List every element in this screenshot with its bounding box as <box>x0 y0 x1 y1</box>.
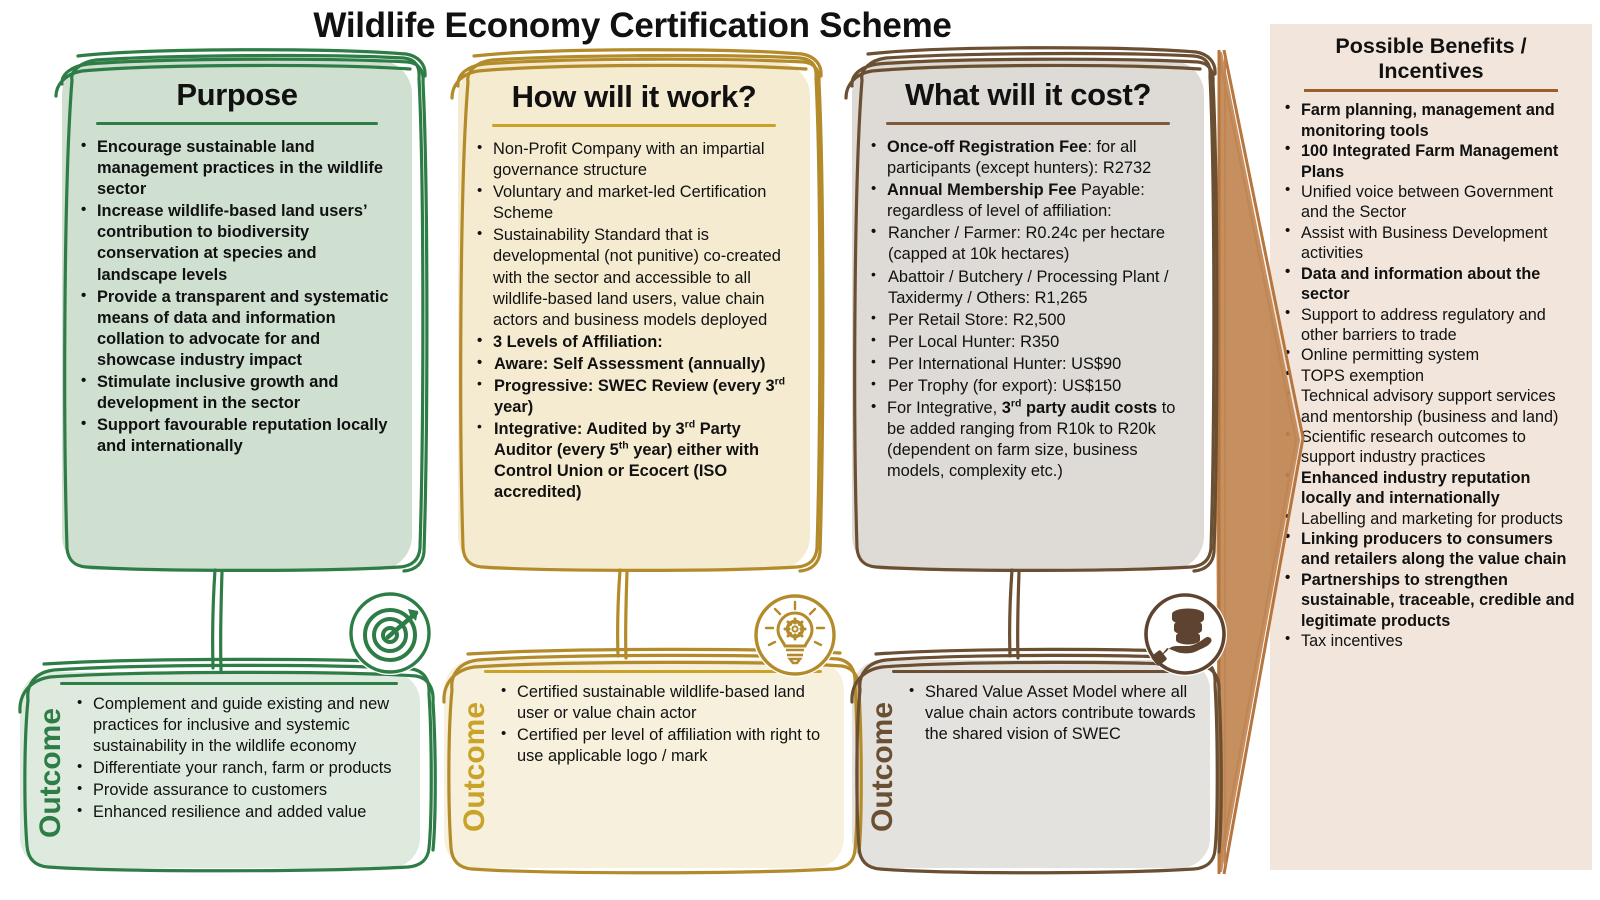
list-item: Aware: Self Assessment (annually) <box>475 354 794 375</box>
card-how-will-it-work: How will it work? Non-Profit Company wit… <box>458 62 810 570</box>
list-item: Progressive: SWEC Review (every 3rd year… <box>475 376 794 418</box>
list-item: Rancher / Farmer: R0.24c per hectare (ca… <box>869 223 1188 265</box>
benefits-heading: Possible Benefits / Incentives <box>1282 32 1580 83</box>
list-item: Voluntary and market-led Certification S… <box>474 182 794 224</box>
list-item: Differentiate your ranch, farm or produc… <box>74 758 406 779</box>
list-item: Provide a transparent and systematic mea… <box>78 287 396 371</box>
card-how-bullets: Non-Profit Company with an impartial gov… <box>474 139 794 503</box>
list-item: Abattoir / Butchery / Processing Plant /… <box>869 267 1188 309</box>
list-item-group: Aware: Self Assessment (annually) Progre… <box>474 354 794 504</box>
target-icon <box>348 591 432 675</box>
list-item: Linking producers to consumers and retai… <box>1282 529 1580 570</box>
list-item: Labelling and marketing for products <box>1282 509 1580 529</box>
list-item: Sustainability Standard that is developm… <box>474 225 794 330</box>
list-item: Tax incentives <box>1282 631 1580 651</box>
list-item: Enhanced resilience and added value <box>74 802 406 823</box>
hand-coins-icon <box>1143 592 1227 676</box>
card-purpose-divider <box>96 122 378 125</box>
list-item: Certified per level of affiliation with … <box>498 725 830 767</box>
lightbulb-gear-icon <box>753 593 837 677</box>
list-item: Online permitting system <box>1282 345 1580 365</box>
benefits-panel: Possible Benefits / Incentives Farm plan… <box>1270 24 1592 870</box>
list-item: Encourage sustainable land management pr… <box>78 137 396 200</box>
list-item: Technical advisory support services and … <box>1282 386 1580 427</box>
list-item: Stimulate inclusive growth and developme… <box>78 372 396 414</box>
list-item: Per Local Hunter: R350 <box>869 332 1188 353</box>
list-item: Assist with Business Development activit… <box>1282 223 1580 264</box>
list-item: Support to address regulatory and other … <box>1282 305 1580 346</box>
list-item: TOPS exemption <box>1282 366 1580 386</box>
list-item: Once-off Registration Fee: for all parti… <box>868 137 1188 179</box>
outcome-how-bullets: Certified sustainable wildlife-based lan… <box>498 682 830 767</box>
card-how-divider <box>492 124 776 127</box>
card-purpose: Purpose Encourage sustainable land manag… <box>62 60 412 570</box>
list-item: Data and information about the sector <box>1282 264 1580 305</box>
list-item: Scientific research outcomes to support … <box>1282 427 1580 468</box>
list-item: 100 Integrated Farm Management Plans <box>1282 141 1580 182</box>
outcome-box-cost: Outcome Shared Value Asset Model where a… <box>852 660 1210 868</box>
list-item: Provide assurance to customers <box>74 780 406 801</box>
outcome-label: Outcome <box>858 676 900 856</box>
card-cost-heading: What will it cost? <box>868 78 1188 112</box>
list-item: Non-Profit Company with an impartial gov… <box>474 139 794 181</box>
card-purpose-heading: Purpose <box>78 78 396 112</box>
outcome-box-how: Outcome Certified sustainable wildlife-b… <box>444 660 844 868</box>
fee-schedule: Rancher / Farmer: R0.24c per hectare (ca… <box>868 223 1188 397</box>
page-title: Wildlife Economy Certification Scheme <box>0 6 1265 46</box>
outcome-cost-bullets: Shared Value Asset Model where all value… <box>906 682 1196 745</box>
card-cost-divider <box>886 122 1170 125</box>
list-item: Per Trophy (for export): US$150 <box>869 376 1188 397</box>
list-item: Enhanced industry reputation locally and… <box>1282 468 1580 509</box>
list-item: Partnerships to strengthen sustainable, … <box>1282 570 1580 631</box>
list-item-group: Rancher / Farmer: R0.24c per hectare (ca… <box>868 223 1188 397</box>
outcome-label: Outcome <box>26 688 68 856</box>
list-item: Increase wildlife-based land users’ cont… <box>78 201 396 285</box>
affiliation-levels: Aware: Self Assessment (annually) Progre… <box>474 354 794 504</box>
list-item: Per International Hunter: US$90 <box>869 354 1188 375</box>
list-item: Per Retail Store: R2,500 <box>869 310 1188 331</box>
list-item: Unified voice between Government and the… <box>1282 182 1580 223</box>
list-item: Support favourable reputation locally an… <box>78 415 396 457</box>
outcome-purpose-divider <box>60 682 398 685</box>
card-cost-bullets: Once-off Registration Fee: for all parti… <box>868 137 1188 482</box>
connector-purpose <box>213 570 222 670</box>
list-item: Certified sustainable wildlife-based lan… <box>498 682 830 724</box>
outcome-box-purpose: Outcome Complement and guide existing an… <box>20 672 420 868</box>
list-item: Integrative: Audited by 3rd Party Audito… <box>475 419 794 503</box>
card-how-heading: How will it work? <box>474 80 794 114</box>
list-item: For Integrative, 3rd party audit costs t… <box>868 398 1188 482</box>
list-item: Annual Membership Fee Payable: regardles… <box>868 180 1188 222</box>
connector-how <box>618 570 627 658</box>
card-what-will-it-cost: What will it cost? Once-off Registration… <box>852 60 1204 570</box>
benefits-divider <box>1304 89 1558 92</box>
list-item: Farm planning, management and monitoring… <box>1282 100 1580 141</box>
connector-cost <box>1010 570 1019 658</box>
list-item: Complement and guide existing and new pr… <box>74 694 406 757</box>
outcome-label: Outcome <box>450 676 492 856</box>
infographic-canvas: Wildlife Economy Certification Scheme Pu… <box>0 0 1600 900</box>
card-purpose-bullets: Encourage sustainable land management pr… <box>78 137 396 457</box>
benefits-list: Farm planning, management and monitoring… <box>1282 100 1580 651</box>
outcome-purpose-bullets: Complement and guide existing and new pr… <box>74 694 406 823</box>
list-item: Shared Value Asset Model where all value… <box>906 682 1196 745</box>
list-item: 3 Levels of Affiliation: <box>474 332 794 353</box>
